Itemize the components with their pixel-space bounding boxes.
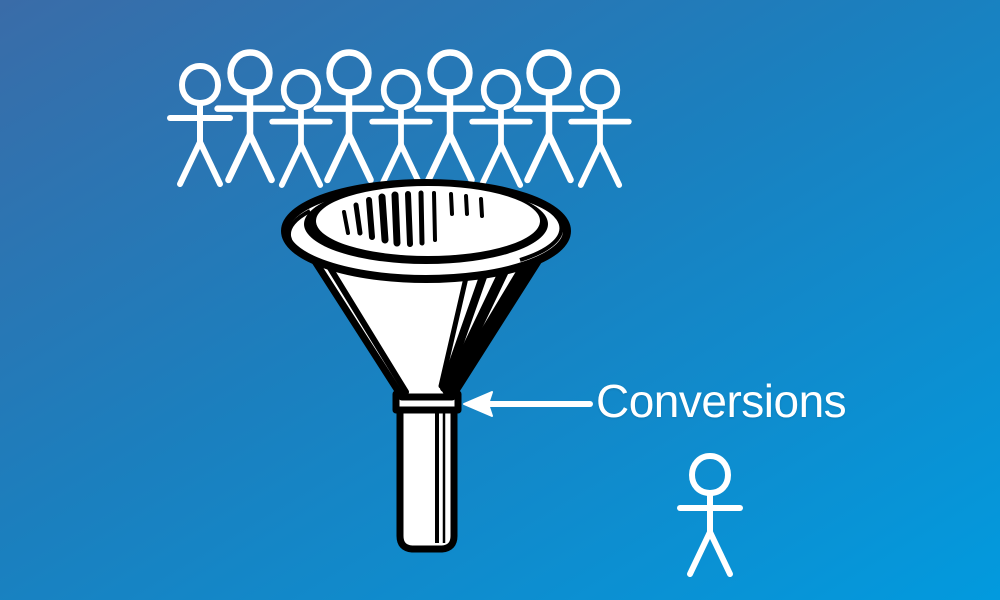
stick-figure [472, 72, 530, 185]
stick-figure [418, 52, 483, 179]
conversions-arrow [464, 392, 590, 416]
illustration-canvas: Conversions [0, 0, 1000, 600]
artwork-layer [0, 0, 1000, 600]
conversions-label: Conversions [596, 378, 846, 424]
stick-figure-crowd [170, 52, 629, 185]
stick-figure [170, 66, 230, 184]
funnel-opening [316, 186, 540, 256]
stick-figure [372, 72, 430, 185]
stick-figure [317, 52, 382, 179]
funnel-spout [400, 400, 454, 549]
stick-figure [272, 72, 330, 185]
stick-figure [571, 72, 629, 185]
converted-stick-figure [680, 456, 740, 574]
funnel [285, 183, 567, 549]
stick-figure [517, 52, 582, 179]
